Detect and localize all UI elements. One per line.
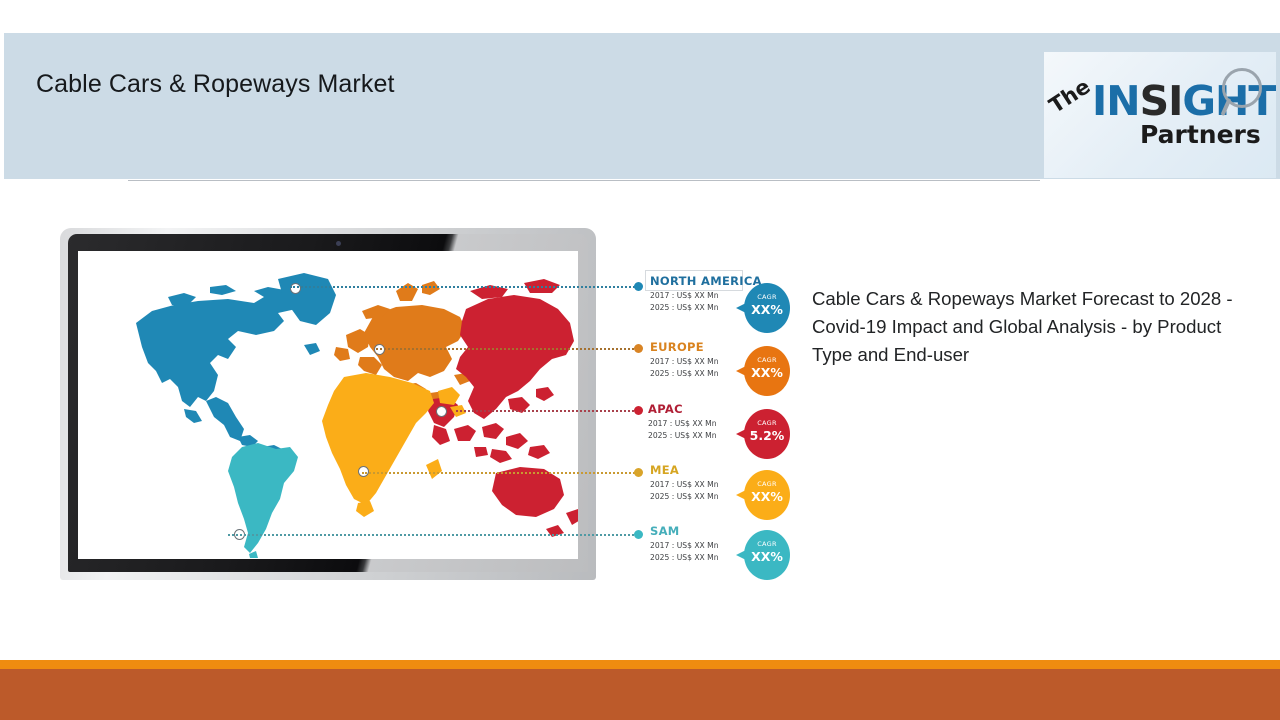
connector-line-europe <box>376 348 638 350</box>
cagr-badge-text-mea: CAGR XX% <box>744 480 790 504</box>
cagr-label-north-america: CAGR <box>744 293 790 301</box>
connector-dot-mea <box>634 468 643 477</box>
region-2017-europe: 2017 : US$ XX Mn <box>650 357 719 366</box>
region-2017-mea: 2017 : US$ XX Mn <box>650 480 719 489</box>
region-2025-europe: 2025 : US$ XX Mn <box>650 369 719 378</box>
connector-line-sam <box>228 534 638 536</box>
logo-partners-text: Partners <box>1140 120 1261 149</box>
cagr-label-apac: CAGR <box>744 419 790 427</box>
report-description: Cable Cars & Ropeways Market Forecast to… <box>812 285 1242 369</box>
connector-dot-north-america <box>634 282 643 291</box>
region-label-europe: EUROPE <box>650 340 719 354</box>
company-logo[interactable]: The INSIGHT Partners <box>1044 52 1276 178</box>
slide-canvas: Cable Cars & Ropeways Market The INSIGHT… <box>0 0 1280 720</box>
map-region-greenland <box>278 273 336 325</box>
cagr-badge-text-europe: CAGR XX% <box>744 356 790 380</box>
map-pin-north-america[interactable] <box>290 283 301 294</box>
region-label-sam: SAM <box>650 524 719 538</box>
connector-dot-sam <box>634 530 643 539</box>
cagr-badge-apac[interactable]: CAGR 5.2% <box>736 409 790 459</box>
footer-bar <box>0 669 1280 720</box>
connector-line-mea <box>362 472 638 474</box>
footer-accent-stripe <box>0 660 1280 669</box>
cagr-label-sam: CAGR <box>744 540 790 548</box>
region-label-mea: MEA <box>650 463 719 477</box>
connector-dot-europe <box>634 344 643 353</box>
callout-sam[interactable]: SAM 2017 : US$ XX Mn 2025 : US$ XX Mn <box>650 524 719 562</box>
callout-mea[interactable]: MEA 2017 : US$ XX Mn 2025 : US$ XX Mn <box>650 463 719 501</box>
map-region-mea <box>322 373 466 517</box>
cagr-label-mea: CAGR <box>744 480 790 488</box>
header-divider <box>128 180 1040 181</box>
laptop-mockup <box>14 228 630 608</box>
cagr-value-north-america: XX% <box>744 302 790 317</box>
region-2017-sam: 2017 : US$ XX Mn <box>650 541 719 550</box>
cagr-value-apac: 5.2% <box>744 428 790 443</box>
cagr-value-mea: XX% <box>744 489 790 504</box>
cagr-badge-north-america[interactable]: CAGR XX% <box>736 283 790 333</box>
map-pin-apac[interactable] <box>436 406 447 417</box>
map-region-sam <box>228 443 298 558</box>
cagr-badge-text-apac: CAGR 5.2% <box>744 419 790 443</box>
connector-line-apac <box>456 410 638 412</box>
callout-europe[interactable]: EUROPE 2017 : US$ XX Mn 2025 : US$ XX Mn <box>650 340 719 378</box>
cagr-badge-mea[interactable]: CAGR XX% <box>736 470 790 520</box>
cagr-value-europe: XX% <box>744 365 790 380</box>
logo-the-text: The <box>1045 74 1095 118</box>
logo-insight-seg1: IN <box>1092 77 1140 125</box>
logo-insight-seg2: SI <box>1140 77 1183 125</box>
connector-dot-apac <box>634 406 643 415</box>
world-map <box>78 251 578 559</box>
region-label-apac: APAC <box>648 402 717 416</box>
cagr-value-sam: XX% <box>744 549 790 564</box>
region-2025-sam: 2025 : US$ XX Mn <box>650 553 719 562</box>
region-2025-mea: 2025 : US$ XX Mn <box>650 492 719 501</box>
cagr-badge-sam[interactable]: CAGR XX% <box>736 530 790 580</box>
connector-line-north-america <box>290 286 638 288</box>
page-title: Cable Cars & Ropeways Market <box>36 70 736 99</box>
cagr-badge-text-sam: CAGR XX% <box>744 540 790 564</box>
region-2017-apac: 2017 : US$ XX Mn <box>648 419 717 428</box>
cagr-badge-text-north-america: CAGR XX% <box>744 293 790 317</box>
cagr-label-europe: CAGR <box>744 356 790 364</box>
webcam-dot-icon <box>336 241 341 246</box>
callout-apac[interactable]: APAC 2017 : US$ XX Mn 2025 : US$ XX Mn <box>648 402 717 440</box>
cagr-badge-europe[interactable]: CAGR XX% <box>736 346 790 396</box>
region-2025-apac: 2025 : US$ XX Mn <box>648 431 717 440</box>
world-map-svg <box>78 251 578 559</box>
